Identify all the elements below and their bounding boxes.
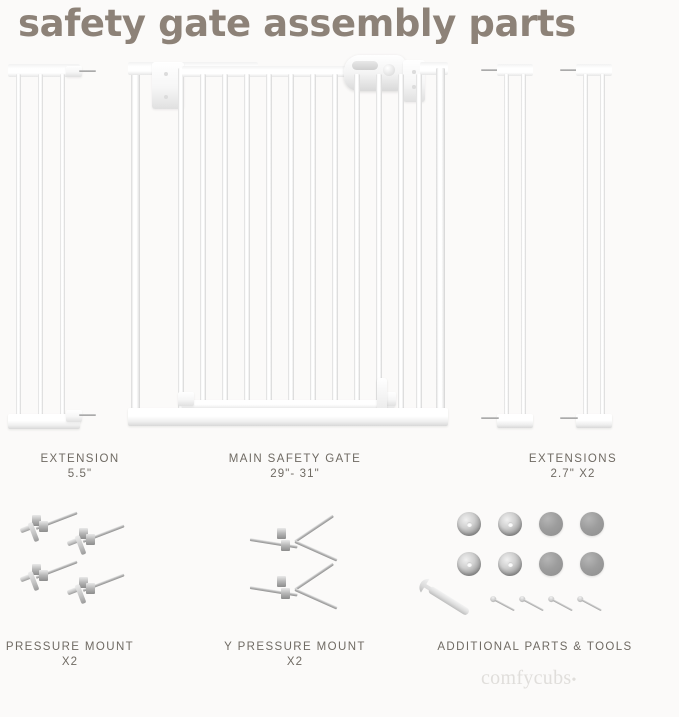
gate-bar (332, 74, 338, 414)
wall-cap-icon (580, 552, 604, 576)
brand-name: comfycubs (481, 667, 571, 689)
wall-cap-icon (539, 552, 563, 576)
gate-bar (310, 74, 316, 414)
extension-bottom-pin (79, 414, 96, 416)
wrench-icon (418, 578, 480, 624)
product-spec: X2 (0, 655, 140, 670)
hinge-screw-hole-icon (164, 95, 168, 99)
product-name: MAIN SAFETY GATE (229, 453, 362, 465)
extension-narrow-bottom-rail (497, 414, 533, 428)
brand-logo: comfycubs• (481, 667, 577, 690)
brand-mark: • (571, 673, 576, 688)
caption-pressure-mount: PRESSURE MOUNT X2 (0, 640, 140, 670)
caption-extension-5-5: EXTENSION 5.5" (0, 452, 160, 482)
extension-bottom-connector (66, 410, 82, 422)
gate-bar (288, 74, 294, 414)
caption-additional-parts: ADDITIONAL PARTS & TOOLS (410, 640, 660, 655)
extension-bar (38, 74, 43, 419)
gate-bar (244, 74, 250, 414)
latch-screw-hole-icon (412, 70, 416, 74)
bolt-hex-nut (39, 570, 48, 581)
extension-top-pin (79, 70, 96, 72)
caption-main-safety-gate: MAIN SAFETY GATE 29"- 31" (180, 452, 410, 482)
extension-narrow-top-rail (497, 64, 533, 76)
gate-bar (416, 74, 422, 414)
caption-extensions-2-7: EXTENSIONS 2.7" X2 (478, 452, 668, 482)
latch-button-icon[interactable] (383, 64, 395, 76)
extension-narrow-bottom-pin (481, 417, 499, 419)
gate-bar (376, 74, 382, 414)
latch-slot-icon (352, 61, 378, 70)
wall-cup-icon (457, 512, 481, 536)
extension-narrow-bar (583, 74, 588, 419)
extension-narrow-bottom-rail (576, 414, 612, 428)
extension-narrow-top-rail (576, 64, 612, 76)
caption-y-pressure-mount: Y PRESSURE MOUNT X2 (215, 640, 375, 670)
product-name: Y PRESSURE MOUNT (224, 641, 366, 653)
product-spec: 29"- 31" (180, 467, 410, 482)
extension-narrow-bar (504, 74, 509, 419)
product-name: ADDITIONAL PARTS & TOOLS (437, 641, 632, 653)
wall-cup-icon (457, 552, 481, 576)
product-name: PRESSURE MOUNT (6, 641, 134, 653)
extension-narrow-bar (521, 74, 526, 419)
y-fork-lower-arm (294, 588, 337, 609)
gate-door-left-stile (178, 68, 184, 420)
product-infographic: safety gate assembly parts EXTENSION 5.5… (0, 0, 679, 717)
gate-right-post (436, 68, 445, 420)
gate-bar (222, 74, 228, 414)
screw-shaft (552, 599, 573, 612)
screw-shaft (494, 599, 515, 612)
y-hex-nut (277, 528, 286, 539)
hinge-screw-hole-icon (164, 72, 168, 76)
page-title: safety gate assembly parts (18, 2, 576, 45)
product-spec: 5.5" (0, 467, 160, 482)
product-spec: X2 (215, 655, 375, 670)
extension-narrow-bar (600, 74, 605, 419)
y-hex-nut (277, 576, 286, 587)
y-stem-rod (250, 538, 298, 548)
y-fork-lower-arm (294, 540, 337, 561)
y-stem-rod (250, 586, 298, 596)
wall-cup-icon (498, 512, 522, 536)
extension-bar (16, 74, 21, 419)
gate-bar (266, 74, 272, 414)
wall-cap-icon (539, 512, 563, 536)
product-name: EXTENSIONS (529, 453, 617, 465)
gate-door-bottom-stop (178, 392, 194, 406)
y-hex-nut (281, 540, 290, 551)
bolt-hex-nut (39, 521, 48, 532)
bolt-hex-nut (86, 534, 95, 545)
gate-bar (354, 74, 360, 414)
extension-narrow-bottom-pin (560, 417, 578, 419)
y-fork-upper-arm (294, 563, 334, 591)
wall-cup-icon (498, 552, 522, 576)
bolt-hex-nut (86, 583, 95, 594)
gate-door-right-stile (398, 74, 404, 420)
gate-bar (200, 74, 206, 414)
gate-left-post (131, 68, 140, 420)
extension-bar (60, 74, 65, 419)
product-spec: 2.7" X2 (478, 467, 668, 482)
wall-cap-icon (580, 512, 604, 536)
y-hex-nut (281, 588, 290, 599)
y-fork-upper-arm (294, 515, 334, 543)
product-name: EXTENSION (40, 453, 119, 465)
screw-shaft (523, 599, 544, 612)
gate-base-rail (128, 408, 448, 426)
latch-screw-hole-icon (412, 85, 416, 89)
screw-shaft (581, 599, 602, 612)
